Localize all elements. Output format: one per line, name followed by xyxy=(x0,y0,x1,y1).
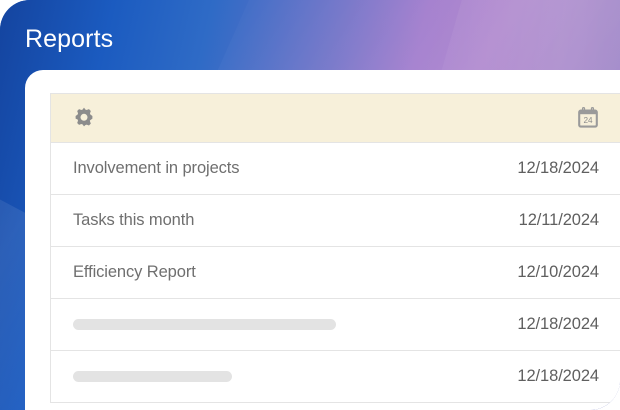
reports-table: 24 Involvement in projects 12/18/2024 Ta… xyxy=(50,93,620,403)
report-date: 12/18/2024 xyxy=(517,315,599,334)
screenshot-stage: Reports xyxy=(0,0,620,410)
skeleton-bar xyxy=(73,371,232,382)
table-row[interactable]: Efficiency Report 12/10/2024 xyxy=(51,247,620,299)
report-date: 12/11/2024 xyxy=(519,211,599,230)
report-date: 12/18/2024 xyxy=(517,367,599,386)
table-header-row: 24 xyxy=(51,94,620,143)
calendar-icon[interactable]: 24 xyxy=(576,106,600,130)
gear-icon[interactable] xyxy=(72,106,96,130)
table-row[interactable]: 12/18/2024 xyxy=(51,351,620,403)
calendar-day-label: 24 xyxy=(583,116,593,125)
report-name: Tasks this month xyxy=(73,211,519,230)
report-name-placeholder xyxy=(73,319,517,330)
report-name-placeholder xyxy=(73,371,517,382)
table-row[interactable]: Involvement in projects 12/18/2024 xyxy=(51,143,620,195)
skeleton-bar xyxy=(73,319,336,330)
report-date: 12/10/2024 xyxy=(517,263,599,282)
table-row[interactable]: Tasks this month 12/11/2024 xyxy=(51,195,620,247)
report-name: Efficiency Report xyxy=(73,263,517,282)
report-date: 12/18/2024 xyxy=(517,159,599,178)
table-row[interactable]: 12/18/2024 xyxy=(51,299,620,351)
content-panel: 24 Involvement in projects 12/18/2024 Ta… xyxy=(25,70,620,410)
rounded-frame: Reports xyxy=(0,0,620,410)
page-title: Reports xyxy=(25,22,113,56)
report-name: Involvement in projects xyxy=(73,159,517,178)
